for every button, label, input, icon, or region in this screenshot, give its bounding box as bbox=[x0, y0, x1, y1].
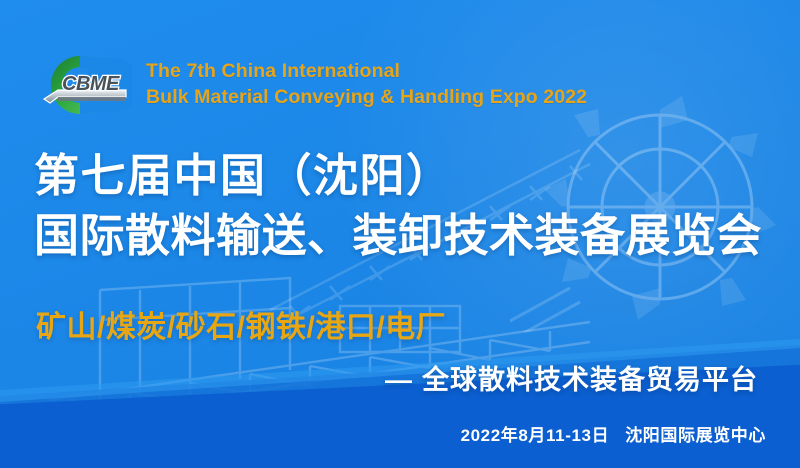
english-title-line1: The 7th China International bbox=[146, 59, 587, 85]
cbme-logo: CBME bbox=[36, 52, 132, 118]
event-venue: 沈阳国际展览中心 bbox=[625, 426, 766, 445]
banner-header: CBME The 7th China International Bulk Ma… bbox=[36, 52, 587, 118]
footer-info: 2022年8月11-13日沈阳国际展览中心 bbox=[461, 421, 766, 446]
tagline: —全球散料技术装备贸易平台 bbox=[385, 358, 758, 397]
cbme-wordmark: CBME bbox=[62, 73, 120, 95]
english-title-line2: Bulk Material Conveying & Handling Expo … bbox=[146, 85, 587, 111]
sectors-line: 矿山/煤炭/砂石/钢铁/港口/电厂 bbox=[36, 302, 446, 346]
chinese-title-line1: 第七届中国（沈阳） bbox=[34, 146, 762, 206]
expo-banner: CBME The 7th China International Bulk Ma… bbox=[0, 0, 800, 468]
chinese-title: 第七届中国（沈阳） 国际散料输送、装卸技术装备展览会 bbox=[34, 146, 762, 266]
english-title: The 7th China International Bulk Materia… bbox=[146, 59, 587, 110]
tagline-dash: — bbox=[385, 365, 412, 395]
chinese-title-line2: 国际散料输送、装卸技术装备展览会 bbox=[34, 206, 762, 266]
cbme-logo-icon: CBME bbox=[36, 52, 132, 118]
event-date: 2022年8月11-13日 bbox=[461, 426, 610, 445]
tagline-text: 全球散料技术装备贸易平台 bbox=[422, 365, 758, 395]
